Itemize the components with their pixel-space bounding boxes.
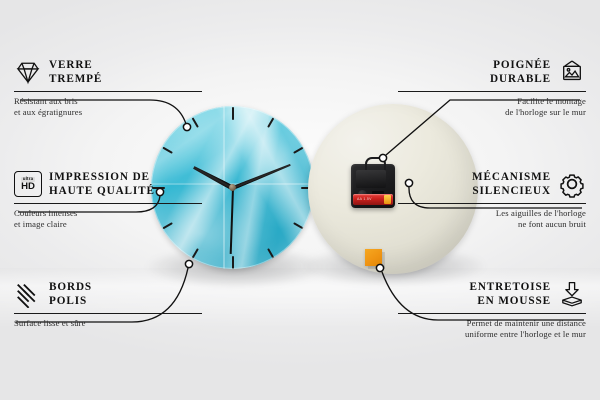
feature-head: BORDS POLIS: [14, 280, 202, 309]
feature-head: VERRE TREMPÉ: [14, 58, 202, 87]
feature-divider: [398, 313, 586, 314]
infographic-stage: AA 1.5V: [0, 0, 600, 400]
feature-subtitle: Surface lisse et sûre: [14, 318, 202, 330]
connector-dot-verre: [183, 123, 190, 130]
hanging-picture-frame-icon: [558, 58, 586, 86]
feature-title: VERRE TREMPÉ: [49, 58, 102, 87]
feature-subtitle: Couleurs intenses et image claire: [14, 208, 202, 231]
feature-mecanisme-silencieux: MÉCANISME SILENCIEUX Les aiguilles de l'…: [398, 170, 586, 231]
diagonal-lines-icon: [14, 280, 42, 308]
feature-poignee-durable: POIGNÉE DURABLE Facilite le montage de l…: [398, 58, 586, 119]
connector-dot-bords: [185, 260, 192, 267]
feature-bords-polis: BORDS POLIS Surface lisse et sûre: [14, 280, 202, 329]
feature-divider: [14, 203, 202, 204]
diamond-icon: [14, 58, 42, 86]
feature-divider: [14, 313, 202, 314]
feature-subtitle: Résistant aux bris et aux égratignures: [14, 96, 202, 119]
ultra-hd-badge-bottom: HD: [21, 182, 35, 192]
feature-divider: [398, 203, 586, 204]
connector-dot-poignee: [379, 154, 386, 161]
feature-title: BORDS POLIS: [49, 280, 92, 309]
ultra-hd-badge-icon: ultra HD: [14, 171, 42, 197]
feature-title: IMPRESSION DE HAUTE QUALITÉ: [49, 170, 155, 199]
feature-divider: [398, 91, 586, 92]
feature-head: ENTRETOISE EN MOUSSE: [398, 280, 586, 309]
feature-entretoise-en-mousse: ENTRETOISE EN MOUSSE Permet de maintenir…: [398, 280, 586, 341]
feature-subtitle: Facilite le montage de l'horloge sur le …: [398, 96, 586, 119]
feature-subtitle: Permet de maintenir une distance uniform…: [398, 318, 586, 341]
arrow-down-onto-pad-icon: [558, 280, 586, 308]
feature-title: POIGNÉE DURABLE: [490, 58, 551, 87]
connector-dot-entretoise: [376, 264, 383, 271]
feature-head: POIGNÉE DURABLE: [398, 58, 586, 87]
feature-head: MÉCANISME SILENCIEUX: [398, 170, 586, 199]
feature-title: ENTRETOISE EN MOUSSE: [469, 280, 551, 309]
feature-verre-trempe: VERRE TREMPÉ Résistant aux bris et aux é…: [14, 58, 202, 119]
feature-subtitle: Les aiguilles de l'horloge ne font aucun…: [398, 208, 586, 231]
feature-title: MÉCANISME SILENCIEUX: [472, 170, 551, 199]
feature-impression-haute-qualite: ultra HD IMPRESSION DE HAUTE QUALITÉ Cou…: [14, 170, 202, 231]
feature-head: ultra HD IMPRESSION DE HAUTE QUALITÉ: [14, 170, 202, 199]
feature-divider: [14, 91, 202, 92]
gear-icon: [558, 170, 586, 198]
